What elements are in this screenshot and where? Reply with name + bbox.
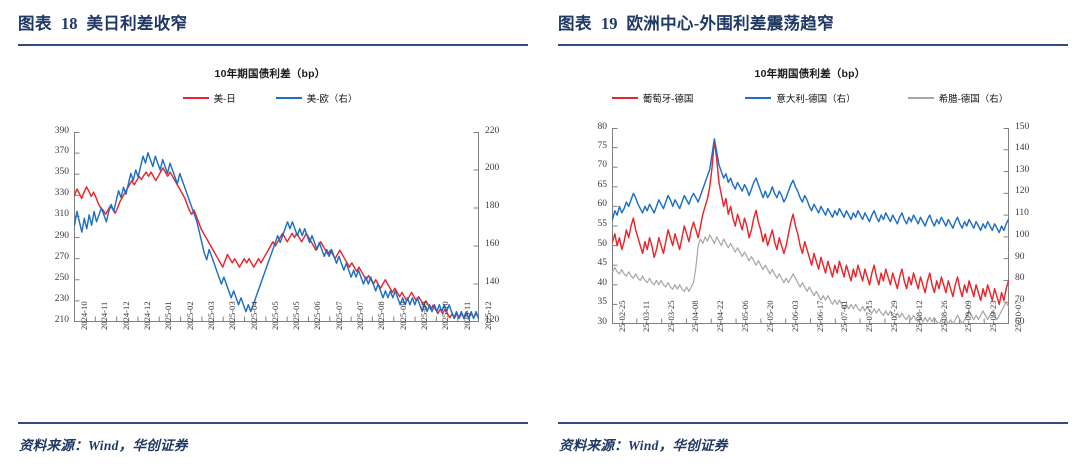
x-axis-tick-label: 25-03-25 — [666, 300, 676, 332]
x-axis-tick-label: 2025-07 — [355, 301, 365, 330]
y-axis-tick-label: 310 — [38, 209, 69, 219]
x-axis-tick-label: 25-08-12 — [914, 300, 924, 332]
chart-legend: 美-日 美-欧（右） — [0, 91, 540, 105]
legend-item-2[interactable]: 希腊-德国（右） — [908, 91, 1009, 105]
x-axis-tick-label: 2025-03 — [227, 301, 237, 330]
header-divider — [558, 44, 1068, 46]
source-note: 资料来源：Wind，华创证券 — [19, 434, 188, 454]
legend-label: 葡萄牙-德国 — [643, 91, 694, 105]
legend-swatch-line-icon — [276, 97, 302, 99]
x-axis-tick-label: 2025-06 — [312, 301, 322, 330]
x-axis-tick-label: 25-05-06 — [740, 300, 750, 332]
y-axis-tick-label: 230 — [38, 294, 69, 304]
y-axis-tick-label: 390 — [38, 126, 69, 136]
x-axis-tick-label: 2024-11 — [99, 302, 109, 330]
x-axis-tick-label: 25-04-22 — [715, 300, 725, 332]
y2-axis-tick-label: 220 — [485, 126, 499, 136]
x-axis-tick-label: 2025-01 — [163, 301, 173, 330]
y-axis-tick-label: 370 — [38, 146, 69, 156]
figure-number: 19 — [601, 14, 618, 34]
legend-label: 美-欧（右） — [307, 91, 358, 105]
y-axis-tick-label: 30 — [576, 317, 607, 327]
footer-divider — [558, 422, 1068, 424]
x-axis-tick-label: 25-10-07 — [1013, 300, 1023, 332]
x-axis-tick-label: 2025-03 — [206, 301, 216, 330]
series-line-1 — [613, 139, 1009, 233]
panel-header-19: 图表 19 欧洲中心-外围利差震荡趋窄 — [558, 10, 1062, 44]
chart-legend: 葡萄牙-德国 意大利-德国（右） 希腊-德国（右） — [540, 91, 1080, 105]
legend-swatch-line-icon — [908, 97, 934, 99]
legend-swatch-line-icon — [745, 97, 771, 99]
x-axis-tick-label: 25-05-20 — [765, 300, 775, 332]
legend-label: 美-日 — [214, 91, 236, 105]
y2-axis-tick-label: 150 — [1015, 122, 1029, 132]
header-divider — [18, 44, 528, 46]
legend-item-0[interactable]: 美-日 — [183, 91, 236, 105]
y2-axis-tick-label: 200 — [485, 163, 499, 173]
figure-title: 美日利差收窄 — [87, 10, 188, 34]
legend-swatch-line-icon — [612, 97, 638, 99]
figure-title: 欧洲中心-外围利差震荡趋窄 — [627, 10, 834, 34]
y-axis-tick-label: 70 — [576, 160, 607, 170]
series-line-1 — [75, 153, 479, 319]
x-axis-tick-label: 25-02-25 — [617, 300, 627, 332]
figure-label: 图表 — [558, 10, 592, 34]
legend-item-0[interactable]: 葡萄牙-德国 — [612, 91, 694, 105]
x-axis-tick-label: 2025-09 — [398, 301, 408, 330]
y-axis-tick-label: 290 — [38, 231, 69, 241]
y2-axis-tick-label: 90 — [1015, 252, 1025, 262]
x-axis-tick-label: 25-06-03 — [790, 300, 800, 332]
y-axis-tick-label: 250 — [38, 273, 69, 283]
x-axis-tick-label: 2025-05 — [270, 301, 280, 330]
y-axis-tick-label: 60 — [576, 199, 607, 209]
y-axis-tick-label: 270 — [38, 252, 69, 262]
legend-swatch-line-icon — [183, 97, 209, 99]
x-axis-tick-label: 2025-12 — [483, 301, 493, 330]
x-axis-tick-label: 25-06-17 — [815, 300, 825, 332]
y-axis-tick-label: 40 — [576, 278, 607, 288]
x-axis-tick-label: 25-09-09 — [963, 300, 973, 332]
x-axis-tick-label: 25-03-11 — [641, 301, 651, 332]
y-axis-tick-label: 65 — [576, 180, 607, 190]
x-axis-tick-label: 25-08-26 — [939, 300, 949, 332]
x-axis-tick-label: 25-07-01 — [839, 300, 849, 332]
y2-axis-tick-label: 180 — [485, 201, 499, 211]
y-axis-tick-label: 80 — [576, 122, 607, 132]
plot-area-18 — [74, 132, 479, 322]
y2-axis-tick-label: 140 — [485, 277, 499, 287]
chart-title: 10年期国债利差（bp） — [540, 66, 1080, 81]
figure-label: 图表 — [18, 10, 52, 34]
figure-panel-19: 图表 19 欧洲中心-外围利差震荡趋窄 10年期国债利差（bp） 葡萄牙-德国 … — [540, 0, 1080, 468]
y-axis-tick-label: 330 — [38, 188, 69, 198]
x-axis-tick-label: 2025-02 — [185, 301, 195, 330]
x-axis-tick-label: 2025-10 — [440, 301, 450, 330]
y-axis-tick-label: 350 — [38, 167, 69, 177]
x-axis-tick-label: 25-04-08 — [690, 300, 700, 332]
x-axis-tick-label: 2024-12 — [142, 301, 152, 330]
x-axis-tick-label: 25-09-23 — [988, 300, 998, 332]
source-note: 资料来源：Wind，华创证券 — [559, 434, 728, 454]
y-axis-tick-label: 35 — [576, 297, 607, 307]
x-axis-tick-label: 2025-11 — [462, 302, 472, 330]
panel-header-18: 图表 18 美日利差收窄 — [18, 10, 522, 44]
x-axis-tick-label: 2025-09 — [419, 301, 429, 330]
y2-axis-tick-label: 160 — [485, 239, 499, 249]
x-axis-tick-label: 2024-10 — [79, 301, 89, 330]
report-figure-board: 图表 18 美日利差收窄 10年期国债利差（bp） 美-日 美-欧（右） 390… — [0, 0, 1080, 468]
figure-panel-18: 图表 18 美日利差收窄 10年期国债利差（bp） 美-日 美-欧（右） 390… — [0, 0, 540, 468]
series-line-0 — [75, 168, 479, 318]
chart-title: 10年期国债利差（bp） — [0, 66, 540, 81]
x-axis-tick-label: 2025-05 — [291, 301, 301, 330]
y2-axis-tick-label: 110 — [1015, 208, 1029, 218]
legend-label: 意大利-德国（右） — [776, 91, 855, 105]
y2-axis-tick-label: 140 — [1015, 143, 1029, 153]
x-axis-tick-label: 2025-04 — [249, 301, 259, 330]
legend-label: 希腊-德国（右） — [939, 91, 1009, 105]
y2-axis-tick-label: 130 — [1015, 165, 1029, 175]
y-axis-tick-label: 75 — [576, 141, 607, 151]
x-axis-tick-label: 2025-07 — [334, 301, 344, 330]
y2-axis-tick-label: 120 — [1015, 186, 1029, 196]
chart-container-19: 10年期国债利差（bp） 葡萄牙-德国 意大利-德国（右） 希腊-德国（右） 8… — [540, 52, 1080, 402]
chart-container-18: 10年期国债利差（bp） 美-日 美-欧（右） 3903703503303102… — [0, 52, 540, 402]
plot-area-19 — [612, 128, 1009, 324]
footer-divider — [18, 422, 528, 424]
legend-item-1[interactable]: 美-欧（右） — [276, 91, 358, 105]
y-axis-tick-label: 50 — [576, 239, 607, 249]
x-axis-tick-label: 25-07-15 — [864, 300, 874, 332]
y-axis-tick-label: 55 — [576, 219, 607, 229]
y2-axis-tick-label: 80 — [1015, 273, 1025, 283]
x-axis-tick-label: 2025-08 — [376, 301, 386, 330]
figure-number: 18 — [61, 14, 78, 34]
y-axis-tick-label: 45 — [576, 258, 607, 268]
y2-axis-tick-label: 100 — [1015, 230, 1029, 240]
x-axis-tick-label: 2024-12 — [121, 301, 131, 330]
legend-item-1[interactable]: 意大利-德国（右） — [745, 91, 855, 105]
y-axis-tick-label: 210 — [38, 315, 69, 325]
x-axis-tick-label: 25-07-29 — [889, 300, 899, 332]
